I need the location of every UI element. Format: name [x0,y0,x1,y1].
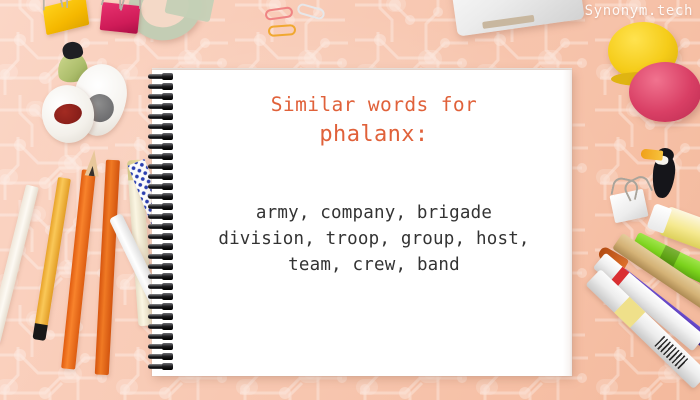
compact-camera-icon [447,0,584,37]
toucan-beak [640,149,663,161]
synonym-list: army, company, brigade division, troop, … [188,200,560,278]
yellow-pencil-icon [35,177,71,327]
desk-scene: Similar words for phalanx: army, company… [0,0,700,400]
decorated-pen-icon [0,184,39,342]
pink-binder-clip-icon [100,2,141,34]
synonym-line: division, troop, group, host, [188,226,560,252]
sharpened-pencil-tip-icon [85,149,102,176]
yellow-binder-clip-icon [43,0,90,35]
page-title-headword: phalanx: [188,120,560,150]
orange-pencil-second-icon [95,160,120,375]
notepad-content: Similar words for phalanx: army, company… [188,92,560,278]
camera-grip [482,15,534,29]
pink-macaron-icon [629,62,700,122]
pink-paper-clip-icon [264,6,293,21]
white-paper-clip-icon [296,2,326,20]
synonym-line: team, crew, band [188,252,560,278]
white-binder-clip-icon [609,189,648,223]
page-title-line1: Similar words for [188,92,560,118]
site-watermark: Synonym.tech [585,3,693,19]
gold-paper-clip-icon [268,24,297,37]
synonym-line: army, company, brigade [188,200,560,226]
